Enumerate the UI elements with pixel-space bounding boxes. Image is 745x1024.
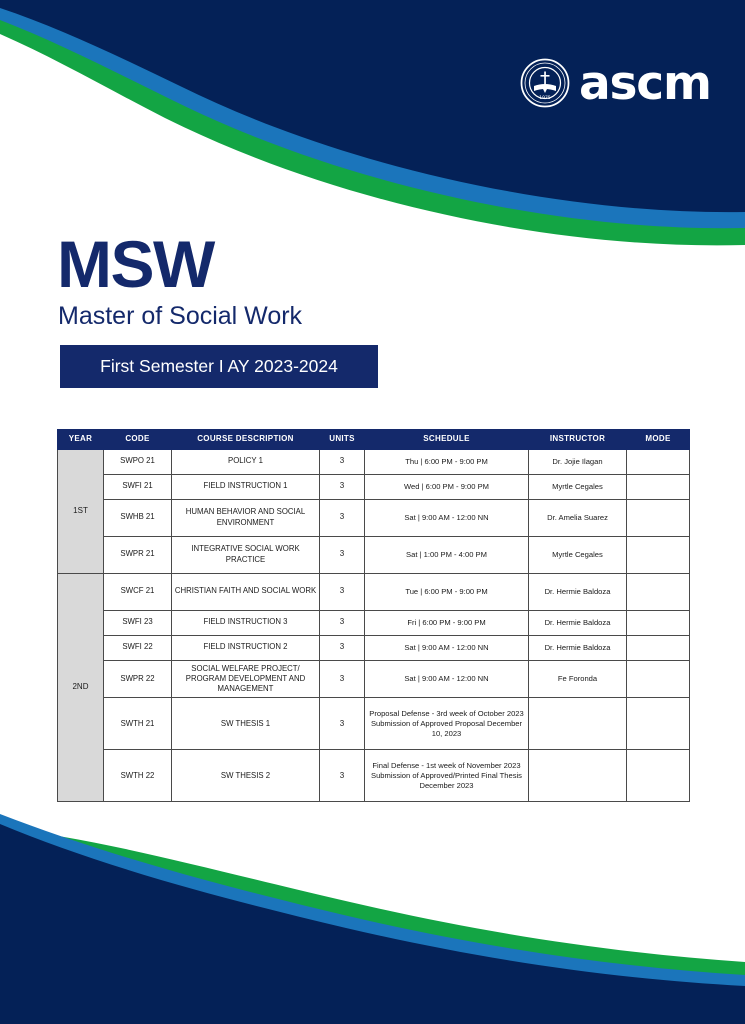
cell-description: FIELD INSTRUCTION 2 bbox=[172, 635, 320, 660]
cell-mode bbox=[627, 474, 690, 499]
cell-code: SWPR 22 bbox=[104, 660, 172, 698]
cell-schedule: Sat | 9:00 AM - 12:00 NN bbox=[365, 635, 529, 660]
cell-instructor: Dr. Jojie Ilagan bbox=[529, 449, 627, 474]
cell-units: 3 bbox=[320, 536, 365, 573]
table-row: SWPR 22SOCIAL WELFARE PROJECT/ PROGRAM D… bbox=[58, 660, 690, 698]
col-header-schedule: SCHEDULE bbox=[365, 430, 529, 450]
school-seal-icon: 1975 bbox=[520, 58, 570, 108]
table-body: 1STSWPO 21POLICY 13Thu | 6:00 PM - 9:00 … bbox=[58, 449, 690, 802]
cell-code: SWFI 23 bbox=[104, 610, 172, 635]
cell-description: CHRISTIAN FAITH AND SOCIAL WORK bbox=[172, 573, 320, 610]
cell-instructor: Myrtle Cegales bbox=[529, 474, 627, 499]
table-row: SWFI 21FIELD INSTRUCTION 13Wed | 6:00 PM… bbox=[58, 474, 690, 499]
semester-banner-label: First Semester I AY 2023-2024 bbox=[100, 358, 338, 376]
cell-description: HUMAN BEHAVIOR AND SOCIAL ENVIRONMENT bbox=[172, 499, 320, 536]
col-header-code: CODE bbox=[104, 430, 172, 450]
table-row: SWTH 21SW THESIS 13Proposal Defense - 3r… bbox=[58, 698, 690, 750]
table-row: 1STSWPO 21POLICY 13Thu | 6:00 PM - 9:00 … bbox=[58, 449, 690, 474]
cell-mode bbox=[627, 499, 690, 536]
cell-schedule: Wed | 6:00 PM - 9:00 PM bbox=[365, 474, 529, 499]
cell-code: SWTH 22 bbox=[104, 750, 172, 802]
cell-units: 3 bbox=[320, 610, 365, 635]
cell-instructor: Dr. Hermie Baldoza bbox=[529, 635, 627, 660]
cell-description: SW THESIS 1 bbox=[172, 698, 320, 750]
cell-code: SWHB 21 bbox=[104, 499, 172, 536]
bottom-wave-blue bbox=[0, 814, 745, 1024]
cell-description: SW THESIS 2 bbox=[172, 750, 320, 802]
cell-code: SWCF 21 bbox=[104, 573, 172, 610]
cell-units: 3 bbox=[320, 474, 365, 499]
cell-code: SWPR 21 bbox=[104, 536, 172, 573]
bottom-wave-green bbox=[0, 828, 745, 1024]
table-row: SWTH 22SW THESIS 23Final Defense - 1st w… bbox=[58, 750, 690, 802]
col-header-mode: MODE bbox=[627, 430, 690, 450]
cell-schedule: Fri | 6:00 PM - 9:00 PM bbox=[365, 610, 529, 635]
col-header-description: COURSE DESCRIPTION bbox=[172, 430, 320, 450]
cell-description: FIELD INSTRUCTION 1 bbox=[172, 474, 320, 499]
course-schedule-table: YEAR CODE COURSE DESCRIPTION UNITS SCHED… bbox=[57, 429, 690, 802]
top-wave-blue bbox=[0, 0, 745, 228]
table-row: 2NDSWCF 21CHRISTIAN FAITH AND SOCIAL WOR… bbox=[58, 573, 690, 610]
cell-instructor: Myrtle Cegales bbox=[529, 536, 627, 573]
cell-code: SWFI 22 bbox=[104, 635, 172, 660]
cell-units: 3 bbox=[320, 698, 365, 750]
cell-mode bbox=[627, 536, 690, 573]
table-row: SWHB 21HUMAN BEHAVIOR AND SOCIAL ENVIRON… bbox=[58, 499, 690, 536]
course-offering-page: 1975 ascm MSW Master of Social Work Firs… bbox=[0, 0, 745, 1024]
table-header-row: YEAR CODE COURSE DESCRIPTION UNITS SCHED… bbox=[58, 430, 690, 450]
cell-mode bbox=[627, 750, 690, 802]
cell-code: SWPO 21 bbox=[104, 449, 172, 474]
cell-mode bbox=[627, 610, 690, 635]
cell-mode bbox=[627, 635, 690, 660]
page-title-full: Master of Social Work bbox=[58, 304, 302, 329]
cell-description: INTEGRATIVE SOCIAL WORK PRACTICE bbox=[172, 536, 320, 573]
cell-units: 3 bbox=[320, 449, 365, 474]
table-row: SWPR 21INTEGRATIVE SOCIAL WORK PRACTICE3… bbox=[58, 536, 690, 573]
cell-instructor bbox=[529, 750, 627, 802]
brand-wordmark: ascm bbox=[579, 60, 711, 107]
year-group-cell: 2ND bbox=[58, 573, 104, 802]
col-header-year: YEAR bbox=[58, 430, 104, 450]
year-group-cell: 1ST bbox=[58, 449, 104, 573]
page-title-acronym: MSW bbox=[57, 231, 214, 297]
cell-code: SWTH 21 bbox=[104, 698, 172, 750]
cell-schedule: Thu | 6:00 PM - 9:00 PM bbox=[365, 449, 529, 474]
cell-units: 3 bbox=[320, 750, 365, 802]
col-header-instructor: INSTRUCTOR bbox=[529, 430, 627, 450]
cell-units: 3 bbox=[320, 499, 365, 536]
cell-mode bbox=[627, 573, 690, 610]
cell-mode bbox=[627, 660, 690, 698]
cell-instructor: Dr. Hermie Baldoza bbox=[529, 573, 627, 610]
cell-instructor bbox=[529, 698, 627, 750]
cell-description: FIELD INSTRUCTION 3 bbox=[172, 610, 320, 635]
cell-description: POLICY 1 bbox=[172, 449, 320, 474]
cell-units: 3 bbox=[320, 660, 365, 698]
cell-code: SWFI 21 bbox=[104, 474, 172, 499]
cell-schedule: Final Defense - 1st week of November 202… bbox=[365, 750, 529, 802]
svg-text:1975: 1975 bbox=[539, 95, 551, 101]
cell-units: 3 bbox=[320, 635, 365, 660]
cell-instructor: Fe Foronda bbox=[529, 660, 627, 698]
cell-mode bbox=[627, 698, 690, 750]
cell-instructor: Dr. Hermie Baldoza bbox=[529, 610, 627, 635]
cell-mode bbox=[627, 449, 690, 474]
table-row: SWFI 23FIELD INSTRUCTION 33Fri | 6:00 PM… bbox=[58, 610, 690, 635]
cell-units: 3 bbox=[320, 573, 365, 610]
cell-instructor: Dr. Amelia Suarez bbox=[529, 499, 627, 536]
semester-banner: First Semester I AY 2023-2024 bbox=[60, 345, 378, 388]
cell-schedule: Sat | 9:00 AM - 12:00 NN bbox=[365, 499, 529, 536]
cell-schedule: Sat | 1:00 PM - 4:00 PM bbox=[365, 536, 529, 573]
top-wave-green bbox=[0, 0, 745, 245]
cell-schedule: Tue | 6:00 PM - 9:00 PM bbox=[365, 573, 529, 610]
cell-schedule: Proposal Defense - 3rd week of October 2… bbox=[365, 698, 529, 750]
cell-description: SOCIAL WELFARE PROJECT/ PROGRAM DEVELOPM… bbox=[172, 660, 320, 698]
col-header-units: UNITS bbox=[320, 430, 365, 450]
bottom-wave-navy bbox=[0, 824, 745, 1024]
brand-logo: 1975 ascm bbox=[520, 58, 711, 108]
cell-schedule: Sat | 9:00 AM - 12:00 NN bbox=[365, 660, 529, 698]
table-row: SWFI 22FIELD INSTRUCTION 23Sat | 9:00 AM… bbox=[58, 635, 690, 660]
